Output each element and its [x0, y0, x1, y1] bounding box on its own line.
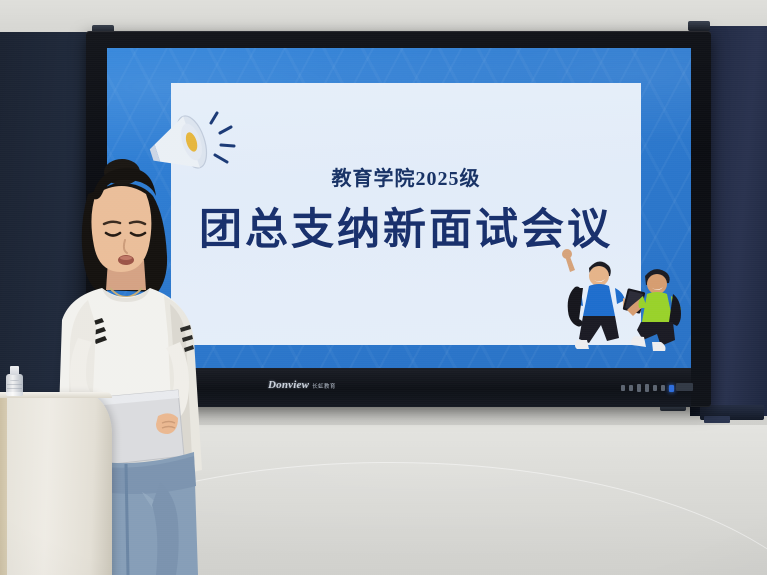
brand-name-text: Donview	[268, 379, 309, 391]
slide-subtitle: 教育学院2025级	[171, 162, 641, 191]
bottle-cap	[10, 366, 19, 375]
student-green	[627, 269, 681, 351]
power-indicator-led[interactable]	[669, 385, 674, 392]
cheering-students-illustration	[551, 248, 691, 368]
lectern-side-edge	[0, 394, 7, 575]
lectern	[0, 394, 112, 575]
control-button-4[interactable]	[645, 384, 649, 392]
student-blue	[562, 249, 645, 349]
wall-panel-bracket	[704, 416, 730, 423]
display-brand: Donview 长虹教育	[268, 379, 336, 391]
control-button-6[interactable]	[661, 385, 665, 391]
control-button-5[interactable]	[653, 385, 657, 391]
classroom-photo-scene: 教育学院2025级 团总支纳新面试会议	[0, 0, 767, 575]
wall-panel-right	[706, 26, 767, 416]
control-button-1[interactable]	[621, 385, 625, 391]
display-mount-bracket-top-right	[688, 21, 710, 31]
display-control-buttons[interactable]	[621, 384, 674, 392]
water-bottle	[6, 366, 23, 396]
control-button-3[interactable]	[637, 384, 641, 392]
bottle-ribs	[7, 380, 22, 392]
ir-receiver-window	[676, 383, 693, 391]
brand-name-chinese: 长虹教育	[312, 382, 336, 390]
control-button-2[interactable]	[629, 385, 633, 391]
